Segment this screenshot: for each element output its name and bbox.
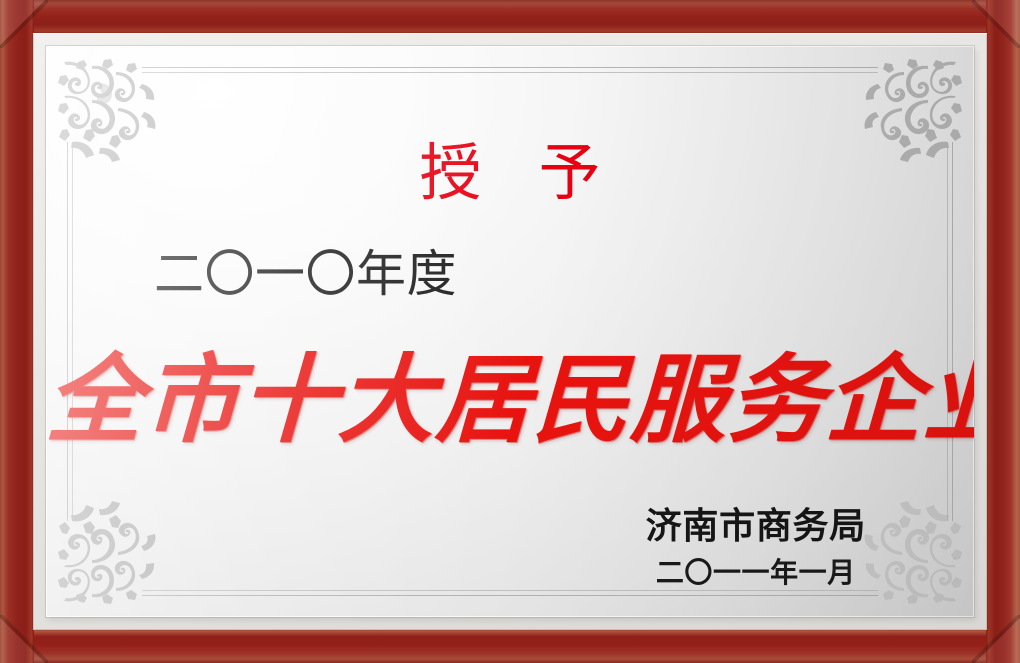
frame-edge-top	[0, 0, 1020, 34]
award-verb-text: 授 予	[46, 142, 974, 204]
inscription-block: 授 予 二〇一〇年度 全市十大居民服务企业 济南市商务局 二〇一一年一月	[46, 46, 974, 617]
issuer-date-text: 二〇一一年一月	[646, 557, 866, 589]
issuer-name-text: 济南市商务局	[646, 506, 866, 547]
plaque-mat: 授 予 二〇一〇年度 全市十大居民服务企业 济南市商务局 二〇一一年一月	[33, 33, 987, 630]
frame-edge-left	[0, 0, 34, 663]
issuer-block: 济南市商务局 二〇一一年一月	[646, 506, 866, 590]
frame-edge-bottom	[0, 629, 1020, 663]
award-plaque: 授 予 二〇一〇年度 全市十大居民服务企业 济南市商务局 二〇一一年一月	[0, 0, 1020, 663]
plaque-plate: 授 予 二〇一〇年度 全市十大居民服务企业 济南市商务局 二〇一一年一月	[46, 46, 974, 617]
award-year-text: 二〇一〇年度	[154, 249, 457, 299]
frame-edge-right	[986, 0, 1020, 663]
award-title-text: 全市十大居民服务企业	[46, 350, 974, 451]
